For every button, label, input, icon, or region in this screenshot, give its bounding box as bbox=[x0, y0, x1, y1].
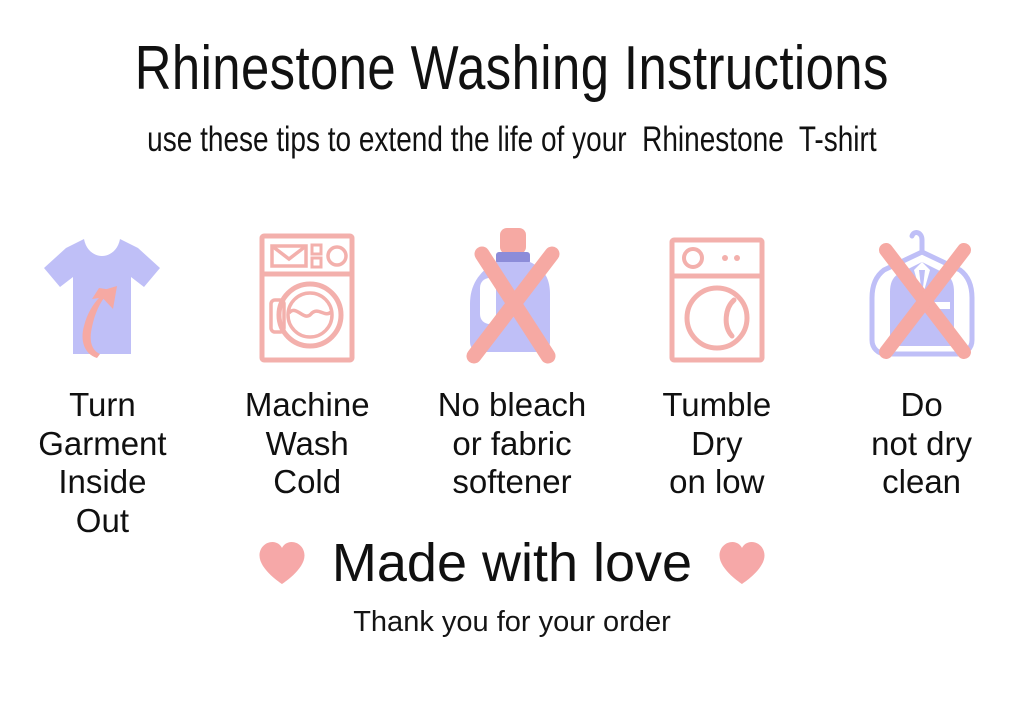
instruction-label-do-not-dry-clean: Do not dry clean bbox=[819, 386, 1024, 502]
tumble-dryer-icon bbox=[668, 236, 766, 364]
instruction-label-machine-wash-cold: Machine Wash Cold bbox=[205, 386, 410, 502]
instruction-label-turn-garment-inside-out: Turn Garment Inside Out bbox=[0, 386, 205, 540]
instruction-label-tumble-dry-low: Tumble Dry on low bbox=[614, 386, 819, 502]
washing-instructions-card: Rhinestone Washing Instructions use thes… bbox=[0, 0, 1024, 724]
no-dry-clean-icon bbox=[864, 222, 980, 364]
made-with-love-row: Made with love bbox=[0, 536, 1024, 590]
instruction-icon-cell bbox=[819, 212, 1024, 364]
instruction-icon-cell bbox=[0, 212, 205, 364]
instruction-icon-cell bbox=[614, 212, 819, 364]
page-title: Rhinestone Washing Instructions bbox=[135, 38, 889, 100]
instruction-label-row: Turn Garment Inside Out Machine Wash Col… bbox=[0, 386, 1024, 540]
thank-you-text: Thank you for your order bbox=[0, 608, 1024, 637]
tshirt-inside-out-icon bbox=[40, 230, 164, 364]
heart-icon bbox=[718, 540, 766, 586]
instruction-label-no-bleach: No bleach or fabric softener bbox=[410, 386, 615, 502]
instruction-icon-row bbox=[0, 212, 1024, 364]
instruction-icon-cell bbox=[410, 212, 615, 364]
washing-machine-icon bbox=[258, 232, 356, 364]
heart-icon bbox=[258, 540, 306, 586]
page-subtitle: use these tips to extend the life of you… bbox=[147, 122, 876, 157]
no-bleach-bottle-icon bbox=[456, 224, 568, 364]
made-with-love-text: Made with love bbox=[332, 536, 692, 590]
instruction-icon-cell bbox=[205, 212, 410, 364]
